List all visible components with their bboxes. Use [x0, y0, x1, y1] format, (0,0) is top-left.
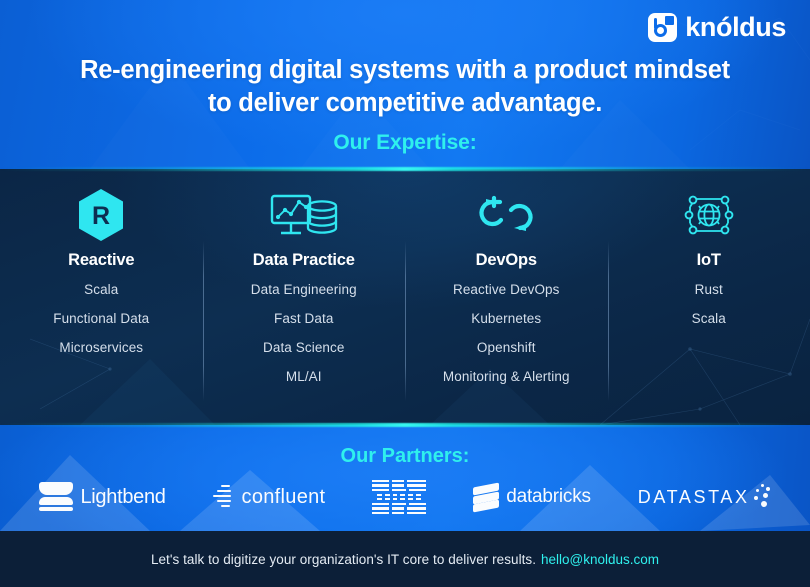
hero-band: knóldus Re-engineering digital systems w… — [0, 0, 810, 169]
expertise-item: Scala — [84, 283, 118, 297]
headline-line-1: Re-engineering digital systems with a pr… — [0, 54, 810, 87]
partners-heading: Our Partners: — [0, 445, 810, 468]
partner-lightbend[interactable]: Lightbend — [39, 482, 165, 512]
footer-bar: Let's talk to digitize your organization… — [0, 531, 810, 587]
partner-databricks[interactable]: databricks — [473, 484, 591, 510]
expertise-column-reactive: R Reactive Scala Functional Data Microse… — [0, 169, 203, 425]
partner-ibm[interactable]: IBM — [372, 480, 426, 514]
knoldus-logo-icon — [648, 13, 677, 42]
expertise-heading: Our Expertise: — [0, 131, 810, 155]
expertise-item: Reactive DevOps — [453, 283, 560, 297]
expertise-item: Fast Data — [274, 312, 333, 326]
partners-logo-row: Lightbend confluent IBM — [0, 474, 810, 520]
lightbend-logo-icon — [39, 482, 73, 512]
partner-datastax[interactable]: DATASTAX — [638, 484, 771, 510]
column-title: IoT — [697, 251, 721, 270]
expertise-column-data-practice: Data Practice Data Engineering Fast Data… — [203, 169, 406, 425]
partner-label: Lightbend — [80, 486, 165, 509]
partner-confluent[interactable]: confluent — [213, 485, 326, 509]
expertise-item: Data Science — [263, 341, 345, 355]
ibm-logo-icon — [372, 480, 426, 482]
confluent-logo-icon — [213, 485, 235, 509]
column-title: DevOps — [476, 251, 537, 270]
partner-label: databricks — [506, 486, 591, 508]
slide-root: knóldus Re-engineering digital systems w… — [0, 0, 810, 587]
column-title: Data Practice — [253, 251, 355, 270]
brand-logo[interactable]: knóldus — [648, 13, 786, 42]
footer-email-link[interactable]: hello@knoldus.com — [541, 552, 659, 567]
svg-text:R: R — [92, 202, 110, 230]
expertise-item: Openshift — [477, 341, 536, 355]
expertise-item: Data Engineering — [251, 283, 357, 297]
page-title: Re-engineering digital systems with a pr… — [0, 54, 810, 119]
column-title: Reactive — [68, 251, 134, 270]
expertise-item: ML/AI — [286, 370, 322, 384]
devops-infinity-icon — [474, 187, 538, 243]
data-analytics-database-icon — [268, 187, 340, 243]
partner-label: DATASTAX — [638, 487, 750, 508]
divider-top — [0, 167, 810, 171]
divider-bottom — [0, 423, 810, 427]
expertise-item: Rust — [695, 283, 723, 297]
headline-line-2: to deliver competitive advantage. — [0, 87, 810, 120]
expertise-item: Microservices — [59, 341, 143, 355]
expertise-column-iot: IoT Rust Scala — [608, 169, 810, 425]
footer-message: Let's talk to digitize your organization… — [151, 552, 536, 567]
expertise-column-devops: DevOps Reactive DevOps Kubernetes Opensh… — [405, 169, 608, 425]
expertise-item: Scala — [692, 312, 726, 326]
expertise-item: Monitoring & Alerting — [443, 370, 570, 384]
iot-globe-network-icon — [681, 187, 737, 243]
datastax-logo-icon — [745, 484, 771, 510]
reactive-hexagon-icon: R — [77, 187, 125, 243]
expertise-item: Kubernetes — [471, 312, 541, 326]
expertise-band: R Reactive Scala Functional Data Microse… — [0, 169, 810, 425]
expertise-columns: R Reactive Scala Functional Data Microse… — [0, 169, 810, 425]
partner-label: confluent — [242, 486, 326, 509]
brand-name: knóldus — [685, 14, 786, 41]
expertise-item: Functional Data — [53, 312, 149, 326]
databricks-logo-icon — [473, 484, 499, 510]
